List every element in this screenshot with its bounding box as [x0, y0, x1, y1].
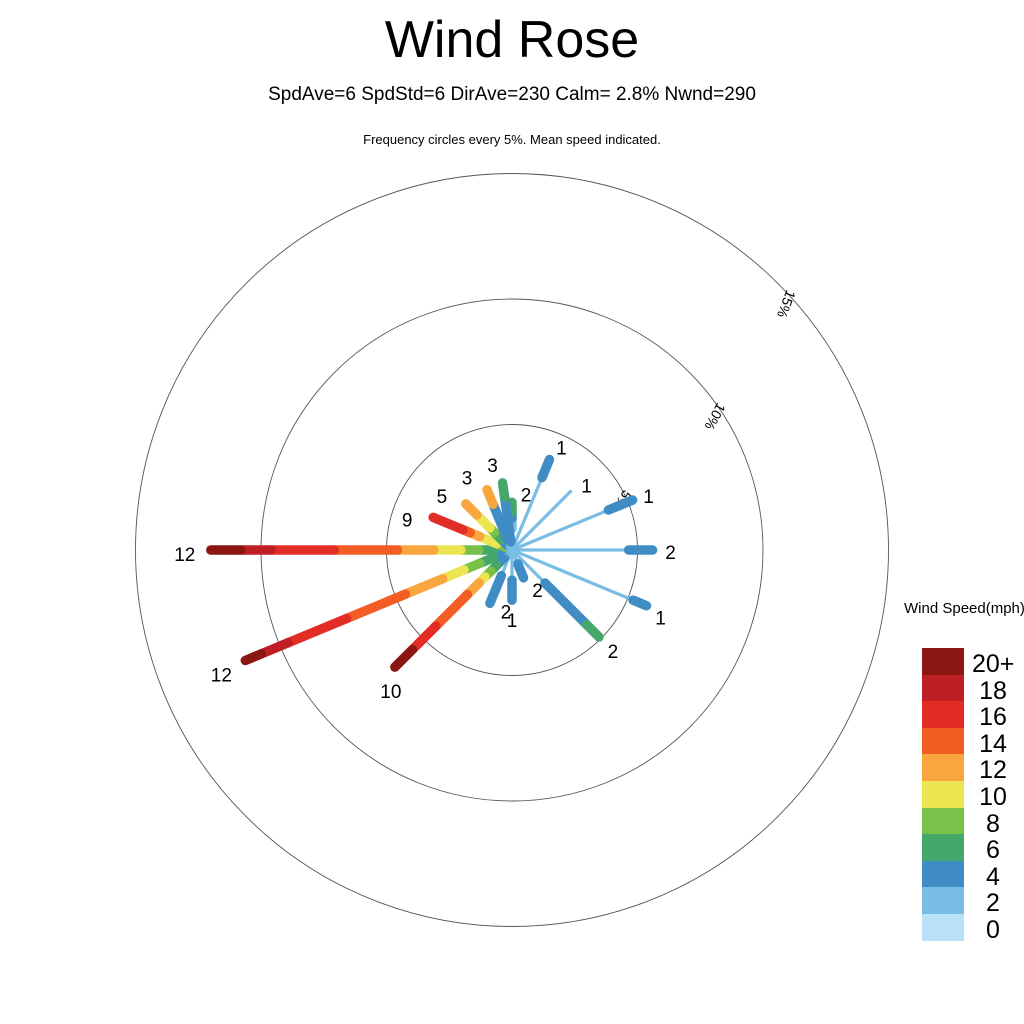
- legend-label-4: 4: [972, 863, 1014, 892]
- wind-rose-plot: 5%10%15%21112122121012129533: [0, 0, 1024, 1024]
- legend-swatch-8: [922, 808, 964, 835]
- legend-label-14: 14: [972, 730, 1014, 759]
- petal-speed-label-ESE: 1: [655, 609, 666, 630]
- petal-speed-label-NNE: 1: [556, 439, 567, 460]
- legend-label-18: 18: [972, 677, 1014, 706]
- petal-speed-label-W: 12: [174, 545, 195, 566]
- petal-speed-label-WSW: 12: [211, 665, 232, 686]
- legend-label-20+: 20+: [972, 650, 1024, 679]
- legend-swatch-10: [922, 781, 964, 808]
- legend-swatch-2: [922, 887, 964, 914]
- wind-petal-SW: [395, 550, 512, 667]
- legend-label-10: 10: [972, 783, 1014, 812]
- legend-swatch-14: [922, 728, 964, 755]
- petal-speed-label-SSW: 2: [501, 602, 512, 623]
- petal-speed-label-SSE: 2: [532, 581, 543, 602]
- legend-label-6: 6: [972, 836, 1014, 865]
- legend-swatch-18: [922, 675, 964, 702]
- petal-segment-SE-1: [545, 583, 587, 625]
- petal-segment-ESE-0: [512, 550, 633, 600]
- legend-label-8: 8: [972, 810, 1014, 839]
- wind-petal-SE: [512, 550, 599, 637]
- legend-swatch-20+: [922, 648, 964, 675]
- legend-label-2: 2: [972, 889, 1014, 918]
- petal-speed-label-NW: 5: [437, 487, 448, 508]
- legend-swatch-16: [922, 701, 964, 728]
- petal-speed-label-SE: 2: [608, 642, 619, 663]
- petal-segment-NW-5: [466, 504, 477, 515]
- ring-label-10%: 10%: [701, 400, 729, 432]
- petal-speed-label-NE: 1: [581, 476, 592, 497]
- petal-speed-label-E: 2: [665, 543, 676, 564]
- legend-title: Wind Speed(mph): [904, 600, 1024, 617]
- petal-segment-SW-7: [412, 626, 435, 649]
- legend-swatch-12: [922, 754, 964, 781]
- petal-segment-SW-6: [436, 595, 468, 627]
- legend-swatch-6: [922, 834, 964, 861]
- petal-segment-NNW-2: [487, 490, 493, 504]
- wind-petal-WSW: [245, 550, 512, 660]
- legend-swatch-0: [922, 914, 964, 941]
- petal-segment-WSW-6: [347, 594, 406, 618]
- legend-label-16: 16: [972, 703, 1014, 732]
- petal-segment-ESE-1: [633, 600, 646, 606]
- petal-segment-SE-2: [587, 625, 599, 637]
- petal-speed-label-ENE: 1: [643, 487, 654, 508]
- ring-label-15%: 15%: [774, 288, 799, 320]
- petal-speed-label-NNW: 3: [462, 469, 473, 490]
- petal-segment-WSW-5: [405, 579, 442, 594]
- petal-segment-N2-2: [503, 483, 505, 498]
- petal-speed-label-N2: 3: [487, 456, 498, 477]
- legend-label-0: 0: [972, 916, 1014, 945]
- legend-label-12: 12: [972, 756, 1014, 785]
- petal-segment-SW-8: [395, 650, 413, 668]
- petal-segment-NNE-1: [542, 460, 549, 478]
- wind-rose-page: Wind Rose SpdAve=6 SpdStd=6 DirAve=230 C…: [0, 0, 1024, 1024]
- legend-swatch-4: [922, 861, 964, 888]
- petal-segment-N2-1: [505, 498, 511, 542]
- petal-speed-label-N: 2: [521, 485, 532, 506]
- petal-segment-WSW-9: [245, 654, 261, 661]
- petal-speed-label-SW: 10: [380, 682, 401, 703]
- petal-segment-SSW-1: [490, 576, 501, 604]
- petal-segment-WNW-5: [433, 517, 463, 529]
- petal-speed-label-WNW: 9: [402, 510, 413, 531]
- petal-segment-SSE-1: [518, 564, 524, 578]
- petal-segment-WSW-7: [288, 618, 347, 642]
